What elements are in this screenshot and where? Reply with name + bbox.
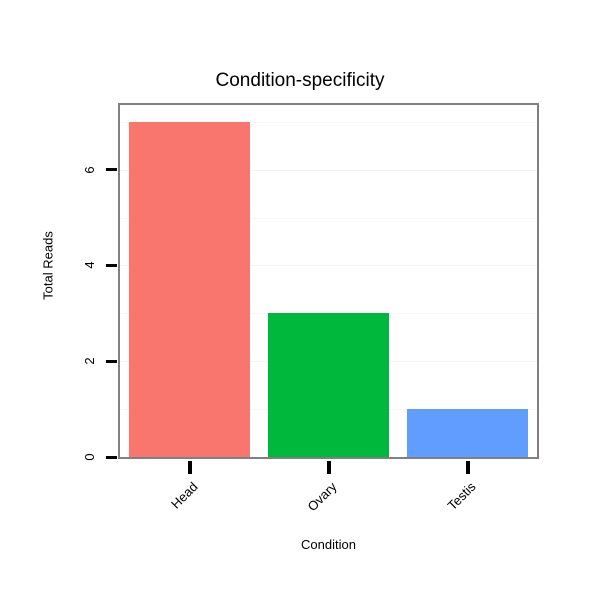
x-tick-label-ovary: Ovary bbox=[244, 479, 339, 574]
x-axis-title: Condition bbox=[118, 537, 539, 553]
y-tick-label: 6 bbox=[83, 156, 97, 184]
y-tick-mark bbox=[106, 168, 117, 171]
y-axis-title: Total Reads bbox=[41, 196, 56, 336]
plot-area bbox=[120, 105, 537, 457]
x-tick-label-head: Head bbox=[105, 479, 200, 574]
x-tick-mark bbox=[466, 461, 470, 474]
bar-head bbox=[129, 122, 249, 457]
chart-title: Condition-specificity bbox=[0, 69, 600, 93]
y-tick-label: 0 bbox=[83, 443, 97, 471]
bar-chart-figure: Condition-specificity 0246 Total Reads H… bbox=[0, 0, 600, 600]
bar-ovary bbox=[268, 313, 388, 457]
x-tick-mark bbox=[188, 461, 192, 474]
plot-panel bbox=[118, 103, 539, 459]
y-tick-mark bbox=[106, 456, 117, 459]
y-tick-label: 4 bbox=[83, 251, 97, 279]
y-tick-mark bbox=[106, 264, 117, 267]
bar-testis bbox=[407, 409, 527, 457]
x-tick-mark bbox=[327, 461, 331, 474]
y-tick-label: 2 bbox=[83, 347, 97, 375]
y-tick-mark bbox=[106, 360, 117, 363]
x-tick-label-testis: Testis bbox=[383, 479, 478, 574]
